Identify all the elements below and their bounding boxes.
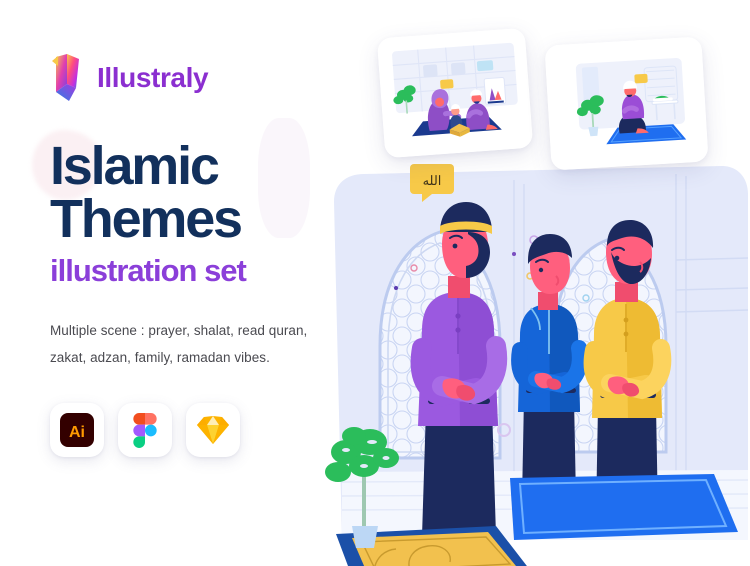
headline-line-1: Islamic bbox=[50, 136, 218, 196]
illustraly-logo-icon bbox=[50, 54, 84, 102]
brand-name: Illustraly bbox=[97, 64, 208, 92]
sketch-tile[interactable] bbox=[186, 403, 240, 457]
svg-text:Ai: Ai bbox=[69, 424, 85, 441]
headline-line-2: Themes bbox=[50, 193, 350, 246]
blue-prayer-rug bbox=[510, 474, 738, 540]
subheadline: illustration set bbox=[50, 255, 350, 288]
format-tiles: Ai bbox=[50, 403, 350, 457]
family-reading-quran-card[interactable] bbox=[377, 28, 533, 159]
figma-icon bbox=[133, 413, 157, 448]
brand-row: Illustraly bbox=[50, 52, 350, 104]
man-praying-card[interactable] bbox=[544, 36, 708, 170]
svg-text:الله: الله bbox=[423, 173, 442, 188]
page-title: Islamic Themes bbox=[50, 140, 350, 246]
three-men-praying-illustration: الله bbox=[318, 140, 750, 566]
figma-tile[interactable] bbox=[118, 403, 172, 457]
description-text: Multiple scene : prayer, shalat, read qu… bbox=[50, 317, 312, 371]
sketch-icon bbox=[196, 415, 230, 445]
adobe-illustrator-icon: Ai bbox=[60, 413, 94, 447]
left-content-column: Illustraly Islamic Themes illustration s… bbox=[50, 52, 350, 457]
adobe-illustrator-tile[interactable]: Ai bbox=[50, 403, 104, 457]
poster-canvas: Illustraly Islamic Themes illustration s… bbox=[0, 0, 750, 566]
